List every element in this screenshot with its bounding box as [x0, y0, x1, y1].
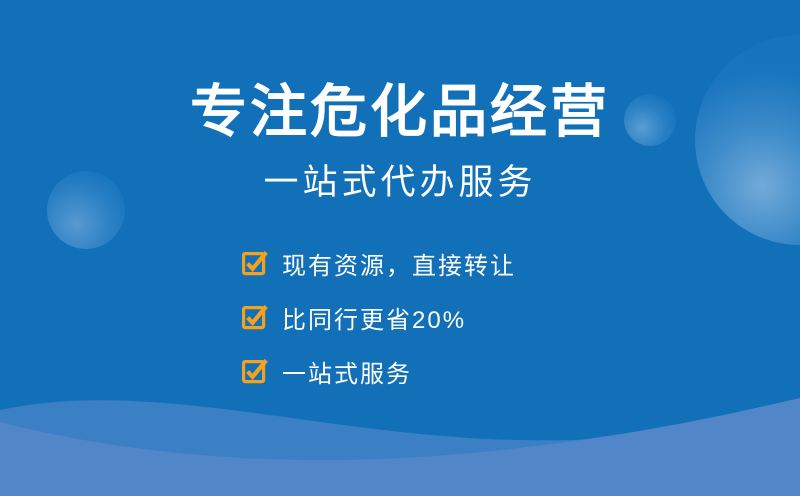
- feature-item: 一站式服务: [242, 354, 516, 389]
- feature-list: 现有资源，直接转让 比同行更省20% 一站式: [242, 246, 516, 389]
- promotional-banner: 专注危化品经营 一站式代办服务 现有资源，直接转让: [0, 0, 800, 496]
- feature-text: 比同行更省20%: [282, 300, 466, 335]
- feature-text: 现有资源，直接转让: [282, 246, 516, 281]
- banner-content: 专注危化品经营 一站式代办服务 现有资源，直接转让: [0, 0, 800, 496]
- feature-item: 现有资源，直接转让: [242, 246, 516, 281]
- checkbox-checked-icon: [242, 251, 267, 276]
- feature-text: 一站式服务: [282, 354, 412, 389]
- checkbox-checked-icon: [242, 305, 267, 330]
- feature-item: 比同行更省20%: [242, 300, 516, 335]
- checkbox-checked-icon: [242, 359, 267, 384]
- banner-subtitle: 一站式代办服务: [263, 164, 536, 203]
- banner-title: 专注危化品经营: [190, 82, 610, 142]
